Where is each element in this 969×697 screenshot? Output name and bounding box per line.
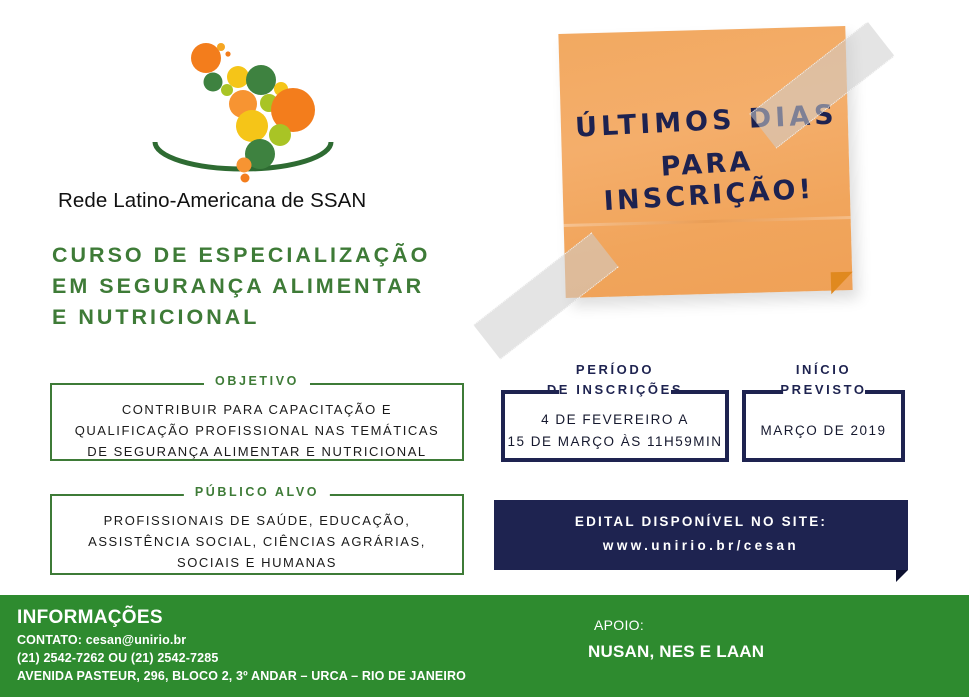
periodo-inscricoes-header: PERÍODO DE INSCRIÇÕES [501, 360, 729, 399]
edital-folded-corner [896, 570, 908, 582]
inicio-value-line-1: MARÇO DE 2019 [742, 420, 905, 442]
footer-informacoes: INFORMAÇÕES CONTATO: cesan@unirio.br (21… [17, 607, 466, 683]
objetivo-text: CONTRIBUIR PARA CAPACITAÇÃO E QUALIFICAÇ… [52, 385, 462, 472]
inicio-header-line-1: INÍCIO [742, 360, 905, 380]
latin-america-dots-logo-icon [123, 18, 363, 183]
objetivo-label: OBJETIVO [204, 374, 310, 388]
course-title-line-3: E NUTRICIONAL [52, 302, 478, 333]
publico-alvo-line-2: ASSISTÊNCIA SOCIAL, CIÊNCIAS AGRÁRIAS, [60, 531, 454, 552]
footer-apoio: APOIO: NUSAN, NES E LAAN [588, 617, 764, 662]
objetivo-line-1: CONTRIBUIR PARA CAPACITAÇÃO E [60, 399, 454, 420]
apoio-label: APOIO: [594, 617, 764, 633]
footer-contato: CONTATO: cesan@unirio.br [17, 633, 466, 647]
course-title-line-1: CURSO DE ESPECIALIZAÇÃO [52, 240, 478, 271]
footer-endereco: AVENIDA PASTEUR, 296, BLOCO 2, 3º ANDAR … [17, 669, 466, 683]
note-crease [564, 216, 851, 227]
inicio-previsto-box: INÍCIO PREVISTO MARÇO DE 2019 [742, 390, 905, 462]
footer-bar: INFORMAÇÕES CONTATO: cesan@unirio.br (21… [0, 595, 969, 697]
sticky-note-line-2: PARA INSCRIÇÃO! [571, 141, 845, 219]
publico-alvo-text: PROFISSIONAIS DE SAÚDE, EDUCAÇÃO, ASSIST… [52, 496, 462, 583]
periodo-value-line-1: 4 DE FEVEREIRO A [501, 409, 729, 431]
periodo-value-line-2: 15 DE MARÇO ÀS 11H59MIN [501, 431, 729, 453]
rlassan-logo [123, 18, 363, 183]
objetivo-box: OBJETIVO CONTRIBUIR PARA CAPACITAÇÃO E Q… [50, 383, 464, 461]
inicio-previsto-value: MARÇO DE 2019 [742, 420, 905, 442]
apoio-value: NUSAN, NES E LAAN [588, 642, 764, 662]
publico-alvo-line-1: PROFISSIONAIS DE SAÚDE, EDUCAÇÃO, [60, 510, 454, 531]
poster-canvas: Rede Latino-Americana de SSAN CURSO DE E… [0, 0, 969, 697]
inicio-header-line-2: PREVISTO [742, 380, 905, 400]
note-folded-corner [831, 272, 854, 295]
publico-alvo-line-3: SOCIAIS E HUMANAS [60, 552, 454, 573]
sticky-note-area: ÚLTIMOS DIAS PARA INSCRIÇÃO! [500, 6, 920, 346]
periodo-inscricoes-value: 4 DE FEVEREIRO A 15 DE MARÇO ÀS 11H59MIN [501, 409, 729, 453]
edital-text: EDITAL DISPONÍVEL NO SITE: www.unirio.br… [494, 514, 908, 553]
edital-url[interactable]: www.unirio.br/cesan [494, 538, 908, 553]
publico-alvo-label: PÚBLICO ALVO [184, 485, 330, 499]
objetivo-line-3: DE SEGURANÇA ALIMENTAR E NUTRICIONAL [60, 441, 454, 462]
brand-name: Rede Latino-Americana de SSAN [58, 189, 478, 213]
course-title: CURSO DE ESPECIALIZAÇÃO EM SEGURANÇA ALI… [52, 240, 478, 334]
periodo-header-line-2: DE INSCRIÇÕES [501, 380, 729, 400]
periodo-inscricoes-box: PERÍODO DE INSCRIÇÕES 4 DE FEVEREIRO A 1… [501, 390, 729, 462]
objetivo-line-2: QUALIFICAÇÃO PROFISSIONAL NAS TEMÁTICAS [60, 420, 454, 441]
course-title-line-2: EM SEGURANÇA ALIMENTAR [52, 271, 478, 302]
periodo-header-line-1: PERÍODO [501, 360, 729, 380]
publico-alvo-box: PÚBLICO ALVO PROFISSIONAIS DE SAÚDE, EDU… [50, 494, 464, 575]
inicio-previsto-header: INÍCIO PREVISTO [742, 360, 905, 399]
footer-title: INFORMAÇÕES [17, 607, 466, 629]
edital-banner[interactable]: EDITAL DISPONÍVEL NO SITE: www.unirio.br… [494, 500, 908, 570]
footer-telefones: (21) 2542-7262 OU (21) 2542-7285 [17, 651, 466, 665]
edital-line-1: EDITAL DISPONÍVEL NO SITE: [494, 514, 908, 529]
brand-block: Rede Latino-Americana de SSAN CURSO DE E… [48, 18, 478, 334]
